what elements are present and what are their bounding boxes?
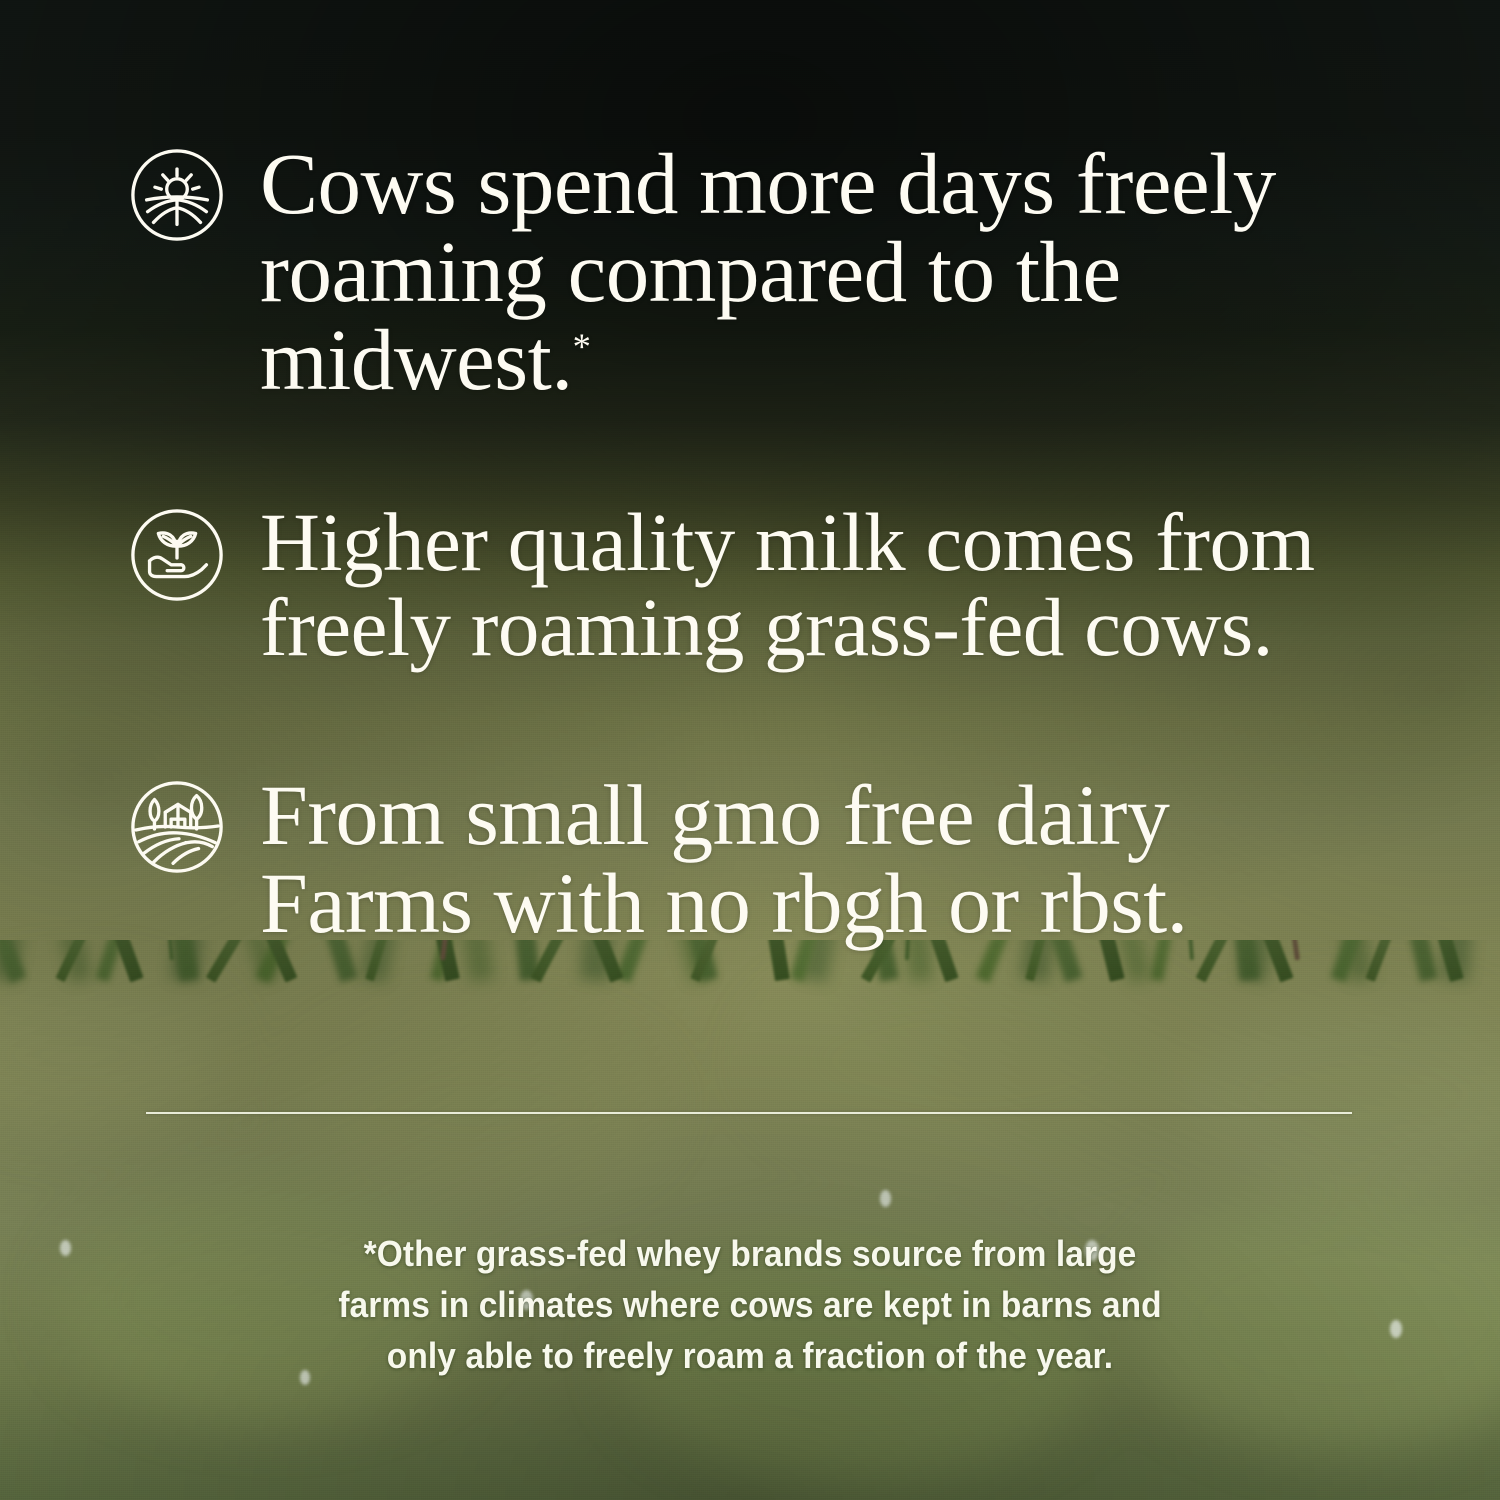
feature-text-1: Cows spend more days freely roaming comp… xyxy=(260,140,1276,404)
feature-item-2: Higher quality milk comes from freely ro… xyxy=(128,500,1448,669)
feature-1-line-1: Cows spend more days freely xyxy=(260,135,1276,232)
feature-1-line-2: roaming compared to the xyxy=(260,223,1121,320)
footnote-block: *Other grass-fed whey brands source from… xyxy=(285,1228,1215,1381)
feature-3-line-1: From small gmo free dairy xyxy=(260,767,1169,863)
feature-1-line-3: midwest. xyxy=(260,311,573,408)
feature-item-3: From small gmo free dairy Farms with no … xyxy=(128,772,1418,947)
sunrise-over-field-icon xyxy=(128,146,226,244)
footnote-line-2: farms in climates where cows are kept in… xyxy=(285,1279,1215,1330)
feature-2-line-1: Higher quality milk comes from xyxy=(260,496,1315,588)
feature-item-1: Cows spend more days freely roaming comp… xyxy=(128,140,1418,404)
footnote-line-3: only able to freely roam a fraction of t… xyxy=(285,1330,1215,1381)
footnote-marker: * xyxy=(573,326,591,367)
content-layer: Cows spend more days freely roaming comp… xyxy=(0,0,1500,1500)
footnote-line-1: *Other grass-fed whey brands source from… xyxy=(285,1228,1215,1279)
feature-text-3: From small gmo free dairy Farms with no … xyxy=(260,772,1188,947)
farm-barn-field-icon xyxy=(128,778,226,876)
hand-holding-sprout-icon xyxy=(128,506,226,604)
horizontal-divider xyxy=(146,1112,1352,1114)
infographic-canvas: Cows spend more days freely roaming comp… xyxy=(0,0,1500,1500)
feature-text-2: Higher quality milk comes from freely ro… xyxy=(260,500,1315,669)
feature-2-line-2: freely roaming grass-fed cows. xyxy=(260,581,1273,673)
feature-3-line-2: Farms with no rbgh or rbst. xyxy=(260,855,1188,951)
